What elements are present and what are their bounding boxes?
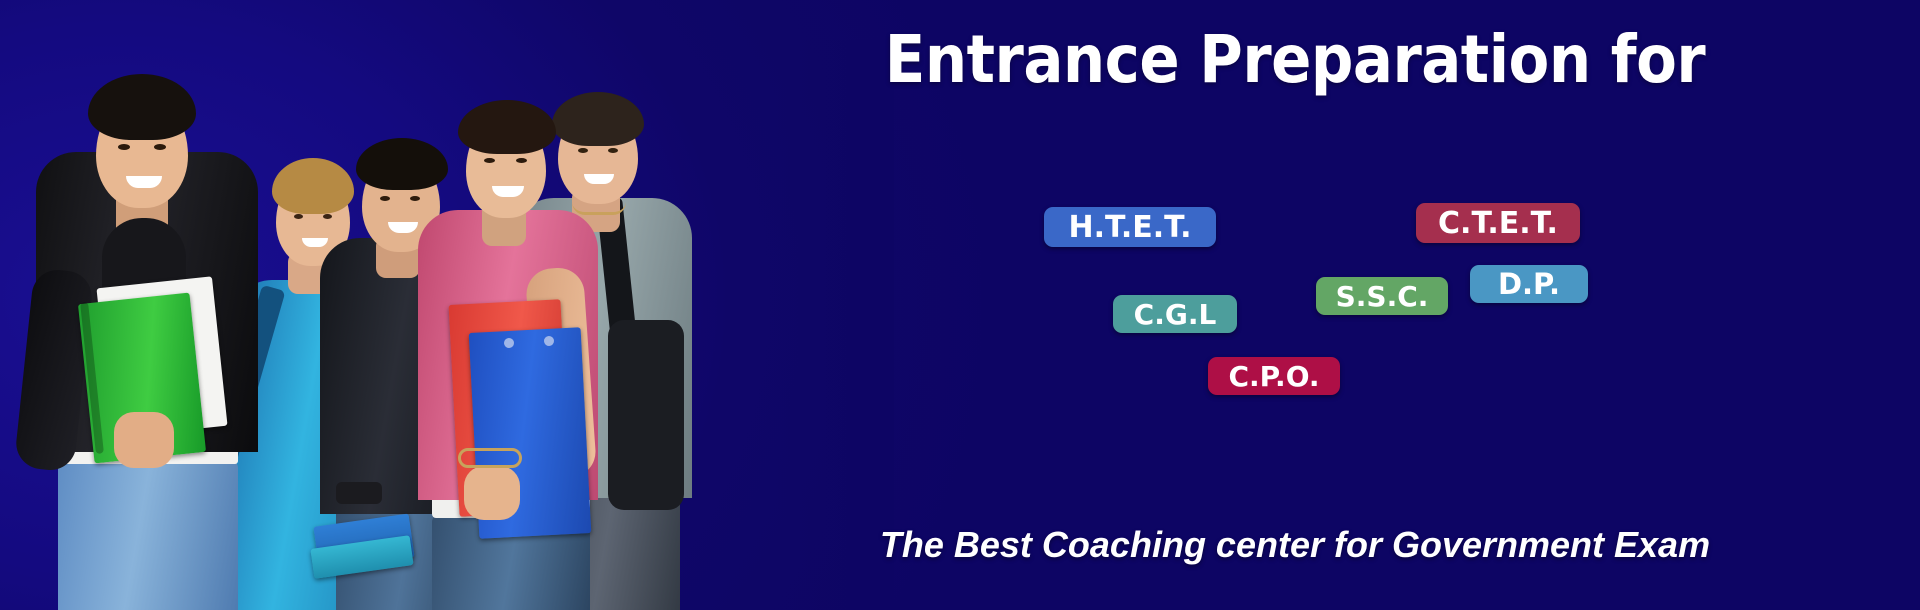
page-title: Entrance Preparation for bbox=[790, 24, 1800, 95]
tagline: The Best Coaching center for Government … bbox=[790, 524, 1800, 566]
hand bbox=[464, 466, 520, 520]
bracelet bbox=[458, 448, 522, 468]
eye bbox=[380, 196, 390, 201]
exam-badge-ssc[interactable]: S.S.C. bbox=[1316, 277, 1448, 315]
wrist-watch bbox=[336, 482, 382, 504]
hair bbox=[88, 74, 196, 140]
hand bbox=[114, 412, 174, 468]
eye bbox=[484, 158, 495, 163]
eye bbox=[294, 214, 303, 219]
exam-badge-ctet[interactable]: C.T.E.T. bbox=[1416, 203, 1580, 243]
eye bbox=[118, 144, 130, 150]
students-photo bbox=[10, 40, 890, 610]
exam-badge-cgl[interactable]: C.G.L bbox=[1113, 295, 1237, 333]
jeans bbox=[58, 460, 238, 610]
hair-top bbox=[458, 100, 556, 154]
student-man-black-sweater bbox=[30, 40, 270, 610]
eye bbox=[516, 158, 527, 163]
eye bbox=[154, 144, 166, 150]
exam-badge-cpo[interactable]: C.P.O. bbox=[1208, 357, 1340, 395]
exam-badge-dp[interactable]: D.P. bbox=[1470, 265, 1588, 303]
exam-badge-htet[interactable]: H.T.E.T. bbox=[1044, 207, 1216, 247]
entrance-preparation-banner: Entrance Preparation for H.T.E.T. C.T.E.… bbox=[0, 0, 1920, 610]
student-woman-pink-top bbox=[408, 62, 618, 610]
backpack bbox=[608, 320, 684, 510]
